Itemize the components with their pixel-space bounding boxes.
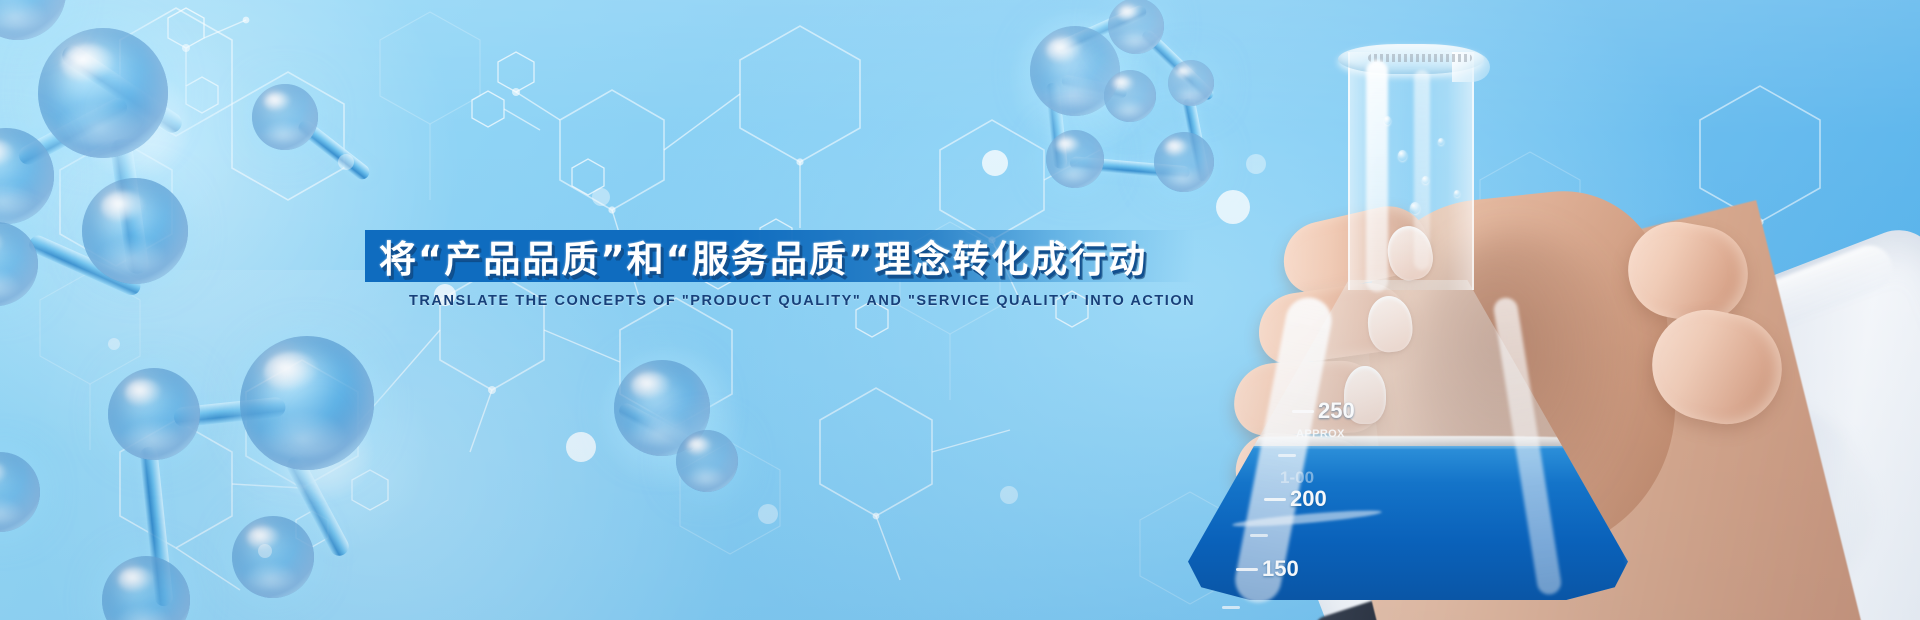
hero-banner: 250 APPROX 1-00 200 150 100 将“产品品质”和“服务品… [0,0,1920,620]
page-title: 将“产品品质”和“服务品质”理念转化成行动 [379,229,1147,283]
background-vignette [0,0,1920,620]
headline-block: 将“产品品质”和“服务品质”理念转化成行动 [365,230,1195,282]
page-subtitle: TRANSLATE THE CONCEPTS OF "PRODUCT QUALI… [409,293,1195,309]
